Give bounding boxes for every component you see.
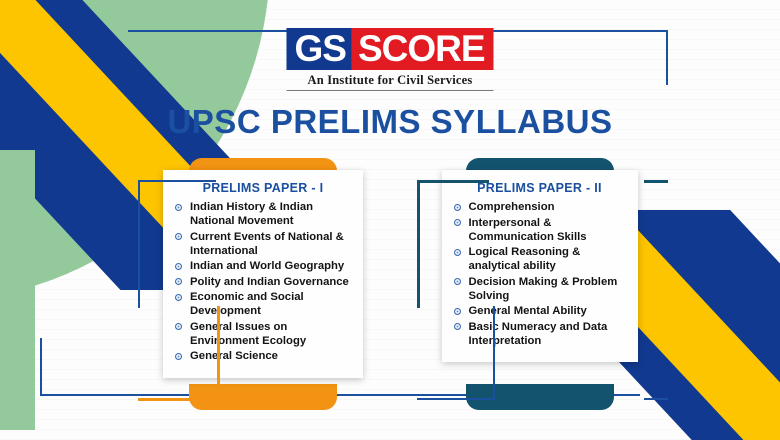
gs-score-logo: GS SCORE An Institute for Civil Services [286, 28, 493, 91]
list-item-label: General Issues on Environment Ecology [190, 321, 306, 347]
list-item: Logical Reasoning & analytical ability [452, 245, 628, 273]
bullet-icon [454, 204, 461, 211]
list-item-label: Comprehension [469, 201, 555, 213]
list-item-label: General Science [190, 350, 278, 362]
logo-wordmark: GS SCORE [286, 28, 493, 70]
list-item: General Issues on Environment Ecology [173, 320, 353, 348]
card2-bracket-left [417, 180, 420, 308]
frame-line-right [666, 30, 668, 85]
bullet-icon [175, 353, 182, 360]
card2-outer-right-bot [644, 398, 668, 400]
card2-bracket-rightv [493, 306, 495, 400]
bullet-icon [175, 263, 182, 270]
list-item-label: Current Events of National & Internation… [190, 231, 344, 257]
card2-bracket-bottom [417, 398, 495, 400]
list-item: Indian History & Indian National Movemen… [173, 200, 353, 228]
card2-item-list: Comprehension Interpersonal & Communicat… [452, 200, 628, 348]
bullet-icon [175, 204, 182, 211]
logo-gs-text: GS [286, 28, 351, 70]
card1-bracket-bottom [138, 398, 220, 401]
bullet-icon [175, 278, 182, 285]
card1-title: PRELIMS PAPER - I [173, 181, 353, 195]
list-item: Polity and Indian Governance [173, 275, 353, 289]
card1-item-list: Indian History & Indian National Movemen… [173, 200, 353, 363]
list-item: Economic and Social Development [173, 290, 353, 318]
page-title: UPSC PRELIMS SYLLABUS [0, 103, 780, 141]
prelims-paper-1-section: PRELIMS PAPER - I Indian History & India… [133, 158, 393, 410]
bullet-icon [454, 278, 461, 285]
list-item-label: Decision Making & Problem Solving [469, 276, 618, 302]
list-item: Decision Making & Problem Solving [452, 275, 628, 303]
list-item-label: Economic and Social Development [190, 291, 304, 317]
list-item-label: Polity and Indian Governance [190, 276, 349, 288]
list-item: General Science [173, 349, 353, 363]
list-item: Comprehension [452, 200, 628, 214]
list-item-label: Basic Numeracy and Data Interpretation [469, 321, 608, 347]
list-item: Interpersonal & Communication Skills [452, 216, 628, 244]
list-item-label: Logical Reasoning & analytical ability [469, 246, 581, 272]
prelims-paper-2-card: PRELIMS PAPER - II Comprehension Interpe… [442, 170, 638, 362]
list-item: Current Events of National & Internation… [173, 230, 353, 258]
bullet-icon [454, 219, 461, 226]
bullet-icon [175, 294, 182, 301]
card2-bracket-top [417, 180, 489, 183]
prelims-paper-1-card: PRELIMS PAPER - I Indian History & India… [163, 170, 363, 378]
list-item-label: Indian and World Geography [190, 260, 344, 272]
card1-bracket-top [138, 180, 216, 182]
bullet-icon [454, 308, 461, 315]
list-item: Basic Numeracy and Data Interpretation [452, 320, 628, 348]
prelims-paper-2-section: PRELIMS PAPER - II Comprehension Interpe… [412, 158, 667, 410]
card2-bottom-tab [466, 384, 614, 410]
bullet-icon [175, 323, 182, 330]
bullet-icon [454, 323, 461, 330]
list-item: Indian and World Geography [173, 259, 353, 273]
frame-line-left [40, 338, 42, 396]
infographic-canvas: GS SCORE An Institute for Civil Services… [0, 0, 780, 440]
card1-bracket-rightv [217, 306, 220, 401]
logo-score-text: SCORE [352, 28, 494, 70]
card1-bottom-tab [189, 384, 337, 410]
list-item-label: Interpersonal & Communication Skills [469, 217, 587, 243]
bullet-icon [454, 249, 461, 256]
card2-outer-right-top [644, 180, 668, 183]
card1-bracket-left [138, 180, 140, 308]
list-item-label: General Mental Ability [469, 305, 587, 317]
list-item: General Mental Ability [452, 304, 628, 318]
list-item-label: Indian History & Indian National Movemen… [190, 201, 313, 227]
bullet-icon [175, 233, 182, 240]
left-green-edge-strip [0, 150, 35, 430]
logo-tagline: An Institute for Civil Services [286, 73, 493, 91]
card2-title: PRELIMS PAPER - II [452, 181, 628, 195]
